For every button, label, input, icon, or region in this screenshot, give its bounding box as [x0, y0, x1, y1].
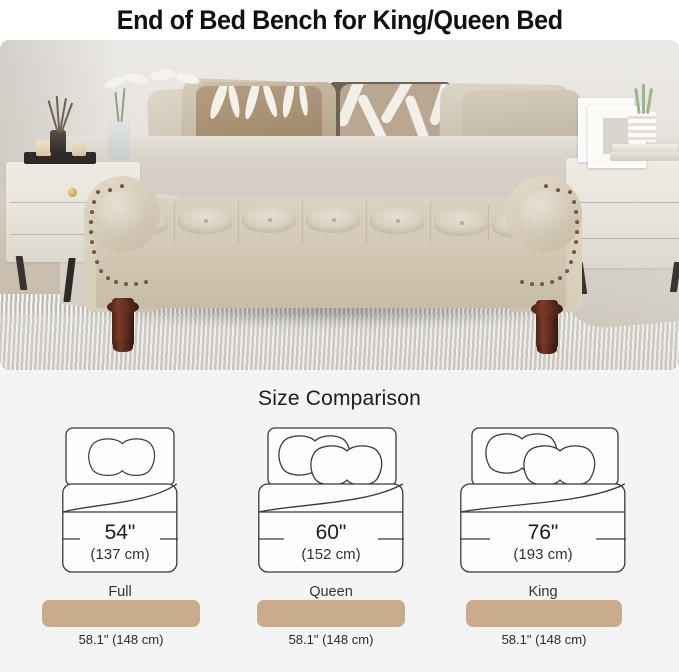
bench-leg-right [536, 300, 558, 352]
title-bar: End of Bed Bench for King/Queen Bed [0, 0, 679, 40]
reed-diffuser [50, 130, 66, 154]
bed-outline-queen: 60" (152 cm) [258, 426, 404, 578]
decor-candle [36, 140, 51, 156]
nightstand-right [566, 158, 679, 268]
planter-pot [628, 112, 656, 142]
size-comparison-panel: Size Comparison 54" [0, 370, 679, 672]
bench-tufting [96, 198, 566, 308]
bench-bar-label-full: 58.1" (148 cm) [79, 632, 164, 647]
bed-outline-full: 54" (137 cm) [62, 426, 178, 578]
decor-candle-2 [72, 142, 86, 156]
bed-width-cm-queen: (152 cm) [301, 546, 360, 563]
hero-photo-scene [0, 40, 679, 370]
bed-width-inches-king: 76" [528, 521, 559, 544]
bench-bar-full [42, 600, 200, 627]
size-comparison-heading: Size Comparison [0, 370, 679, 411]
bed-width-inches-full: 54" [105, 521, 136, 544]
bed-diagram-king: 76" (193 cm) King [460, 426, 626, 600]
bed-width-inches-queen: 60" [316, 521, 347, 544]
bed-name-king: King [528, 584, 557, 600]
bed-diagram-queen: 60" (152 cm) Queen [258, 426, 404, 600]
product-infographic: End of Bed Bench for King/Queen Bed [0, 0, 679, 672]
bed-diagram-full: 54" (137 cm) Full [62, 426, 178, 600]
bench-leg-left [112, 298, 134, 350]
bench-size-bar-queen: 58.1" (148 cm) [257, 600, 405, 647]
bed-name-full: Full [108, 584, 131, 600]
bench-bar-label-king: 58.1" (148 cm) [502, 632, 587, 647]
bench-bar-queen [257, 600, 405, 627]
bench-bar-king [466, 600, 622, 627]
bench-bar-label-queen: 58.1" (148 cm) [289, 632, 374, 647]
glass-vase [108, 118, 130, 160]
bed-size-diagrams: 54" (137 cm) Full [0, 426, 679, 672]
bed-name-queen: Queen [309, 584, 353, 600]
hero-photo [0, 40, 679, 370]
bed-width-cm-king: (193 cm) [513, 546, 572, 563]
bench-seat [96, 198, 566, 308]
bench-size-bar-full: 58.1" (148 cm) [42, 600, 200, 647]
bed-outline-king: 76" (193 cm) [460, 426, 626, 578]
decor-books [612, 144, 678, 152]
page-title: End of Bed Bench for King/Queen Bed [117, 5, 563, 36]
bed-width-cm-full: (137 cm) [90, 546, 149, 563]
bench-size-bar-king: 58.1" (148 cm) [466, 600, 622, 647]
decor-books-2 [610, 152, 679, 161]
